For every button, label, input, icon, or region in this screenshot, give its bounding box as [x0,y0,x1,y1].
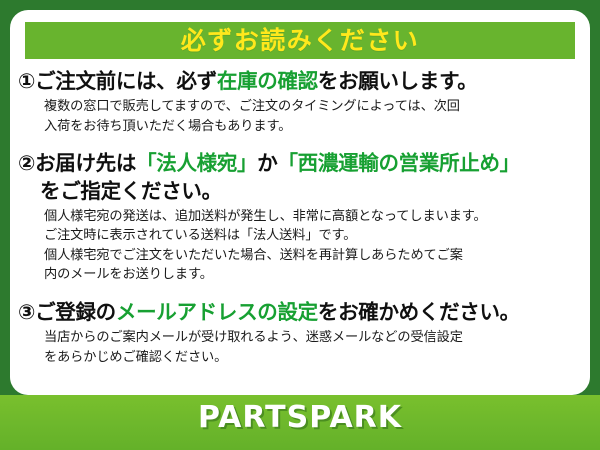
item-2-body-line-3: 個人様宅宛でご注文をいただいた場合、送料を再計算しあらためてご案 [44,246,584,266]
notice-item-1: ①ご注文前には、必ず在庫の確認をお願いします。 複数の窓口で販売してますので、ご… [18,68,584,136]
notice-item-2-body: 個人様宅宛の発送は、追加送料が発生し、非常に高額となってしまいます。 ご注文時に… [44,207,584,285]
item-3-body-line-1: 当店からのご案内メールが受け取れるよう、迷惑メールなどの受信設定 [44,328,584,348]
item-2-body-line-2: ご注文時に表示されている送料は「法人送料」です。 [44,226,584,246]
white-card-panel: 必ずお読みください ①ご注文前には、必ず在庫の確認をお願いします。 複数の窓口で… [10,10,590,395]
item-number-2: ② [18,151,35,175]
item-1-body-line-2: 入荷をお待ち頂いただく場合もあります。 [44,117,584,137]
item-3-heading-pre: ご登録の [35,300,116,324]
notice-item-3: ③ご登録のメールアドレスの設定をお確かめください。 当店からのご案内メールが受け… [18,299,584,367]
item-1-body-line-1: 複数の窓口で販売してますので、ご注文のタイミングによっては、次回 [44,97,584,117]
brand-logo-text: PARTSPARK [0,400,600,435]
notice-item-1-body: 複数の窓口で販売してますので、ご注文のタイミングによっては、次回 入荷をお待ち頂… [44,97,584,136]
item-2-heading-pre: お届け先は [35,151,136,175]
notice-item-3-heading: ③ご登録のメールアドレスの設定をお確かめください。 [18,299,584,326]
item-1-heading-pre: ご注文前には、必ず [35,69,217,93]
item-1-highlight: 在庫の確認 [217,69,318,93]
item-2-body-line-4: 内のメールをお送りします。 [44,265,584,285]
item-3-highlight: メールアドレスの設定 [116,300,318,324]
item-2-highlight-1: 「法人様宛」 [136,151,257,175]
item-2-body-line-1: 個人様宅宛の発送は、追加送料が発生し、非常に高額となってしまいます。 [44,207,584,227]
item-2-highlight-2: 「西濃運輸の営業所止め」 [277,151,519,175]
item-1-heading-post: をお願いします。 [318,69,478,93]
page-title: 必ずお読みください [181,28,420,53]
notice-item-1-heading: ①ご注文前には、必ず在庫の確認をお願いします。 [18,68,584,95]
notice-item-3-body: 当店からのご案内メールが受け取れるよう、迷惑メールなどの受信設定 をあらかじめご… [44,328,584,367]
item-number-3: ③ [18,300,35,324]
notice-item-2: ②お届け先は「法人様宛」か「西濃運輸の営業所止め」をご指定ください。 個人様宅宛… [18,150,584,285]
item-number-1: ① [18,69,35,93]
item-3-body-line-2: をあらかじめご確認ください。 [44,348,584,368]
title-banner: 必ずお読みください [25,22,575,59]
notice-item-2-heading: ②お届け先は「法人様宛」か「西濃運輸の営業所止め」をご指定ください。 [18,150,584,205]
item-3-heading-post: をお確かめください。 [318,300,520,324]
notice-content: ①ご注文前には、必ず在庫の確認をお願いします。 複数の窓口で販売してますので、ご… [10,66,590,369]
item-2-heading-mid: か [257,151,277,175]
notice-image: 必ずお読みください ①ご注文前には、必ず在庫の確認をお願いします。 複数の窓口で… [0,0,600,450]
item-2-heading-post: をご指定ください。 [40,178,584,205]
